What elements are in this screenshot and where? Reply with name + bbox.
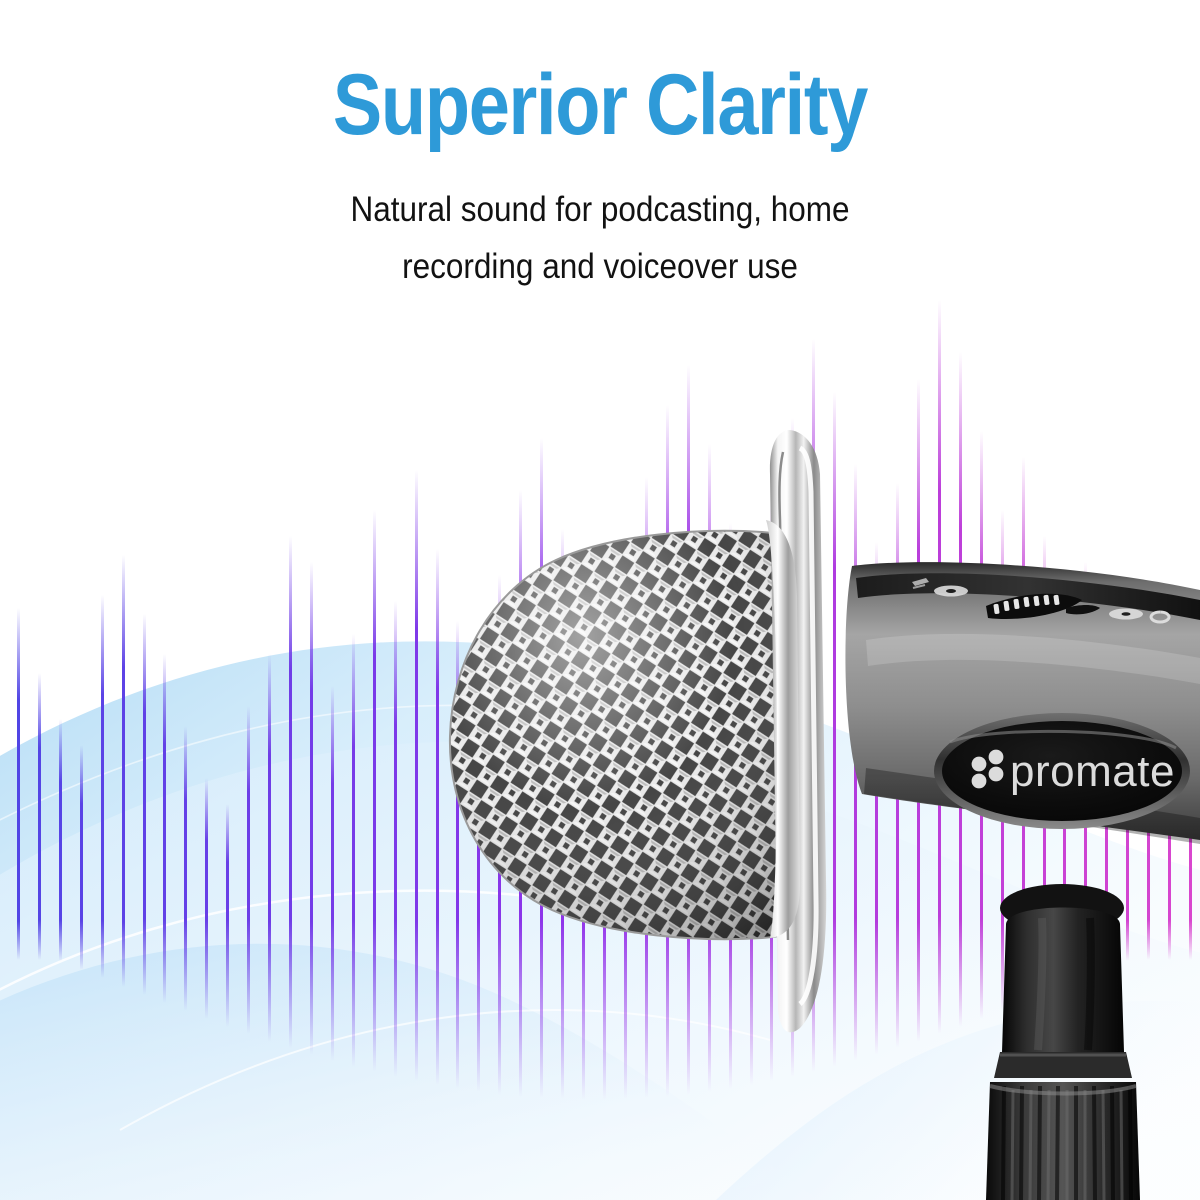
promate-dot-mark-icon xyxy=(972,750,1004,789)
waveform-bar xyxy=(59,719,62,961)
waveform-bar xyxy=(624,555,627,1099)
waveform-bar xyxy=(896,483,899,1048)
waveform-bar xyxy=(17,608,20,960)
waveform-bar xyxy=(101,595,104,979)
microphone-top-controls xyxy=(912,578,1169,622)
audio-waveform-chart xyxy=(0,300,1200,960)
waveform-bar xyxy=(875,542,878,1055)
waveform-bar xyxy=(666,405,669,1097)
waveform-bar xyxy=(456,621,459,1089)
waveform-bar xyxy=(289,536,292,1049)
waveform-bar xyxy=(603,647,606,1100)
waveform-bar xyxy=(519,490,522,1097)
waveform-bar xyxy=(854,464,857,1061)
waveform-bar xyxy=(833,392,836,1067)
waveform-bar xyxy=(1001,510,1004,1012)
waveform-bar xyxy=(310,562,313,1055)
waveform-bar xyxy=(247,706,250,1034)
waveform-bar xyxy=(1063,601,1066,987)
waveform-bar xyxy=(205,778,208,1019)
waveform-bar xyxy=(373,510,376,1073)
brand-logo-plate xyxy=(934,713,1190,829)
microphone-body xyxy=(845,562,1200,844)
waveform-bar xyxy=(791,418,794,1077)
waveform-bar xyxy=(226,804,229,1027)
waveform-bar xyxy=(415,470,418,1081)
waveform-bar xyxy=(331,686,334,1061)
waveform-bar xyxy=(645,477,648,1099)
waveform-bar xyxy=(1043,536,1046,995)
waveform-bar xyxy=(80,745,83,970)
waveform-bar xyxy=(163,654,166,1004)
waveform-bar xyxy=(1168,693,1171,960)
waveform-bar xyxy=(770,503,773,1081)
waveform-bar xyxy=(352,634,355,1067)
waveform-bar xyxy=(729,523,732,1089)
waveform-bar xyxy=(1126,673,1129,961)
waveform-bar xyxy=(394,601,397,1077)
product-banner: promate Superior Clarity Natural sound f… xyxy=(0,0,1200,1200)
microphone-chrome-ring xyxy=(766,430,826,1032)
headline-block: Superior Clarity Natural sound for podca… xyxy=(0,0,1200,295)
waveform-bar xyxy=(268,654,271,1042)
promate-wordmark: promate xyxy=(1010,747,1175,796)
microphone-grille xyxy=(430,510,830,960)
waveform-bar xyxy=(184,726,187,1012)
promate-logo: promate xyxy=(938,712,1188,830)
waveform-bar xyxy=(498,575,501,1095)
waveform-bar xyxy=(1105,634,1108,970)
page-title: Superior Clarity xyxy=(84,0,1116,148)
microphone-stand xyxy=(986,884,1140,1200)
waveform-bar xyxy=(582,588,585,1100)
waveform-bar xyxy=(959,352,962,1027)
waveform-bar xyxy=(143,614,146,995)
waveform-bar xyxy=(687,365,690,1094)
waveform-bar xyxy=(540,438,543,1099)
waveform-bar xyxy=(938,300,941,1034)
waveform-bar xyxy=(917,379,920,1042)
waveform-bar xyxy=(1147,621,1150,960)
page-subtitle: Natural sound for podcasting, home recor… xyxy=(303,148,897,295)
waveform-bar xyxy=(1189,654,1192,960)
page-subtitle-line-2: recording and voiceover use xyxy=(303,239,897,296)
waveform-bar xyxy=(1022,457,1025,1003)
page-subtitle-line-1: Natural sound for podcasting, home xyxy=(303,182,897,239)
waveform-bar xyxy=(122,555,125,986)
waveform-bar xyxy=(477,667,480,1092)
waveform-bar xyxy=(38,673,41,960)
waveform-bar xyxy=(436,549,439,1086)
waveform-bar xyxy=(812,339,815,1072)
waveform-bar xyxy=(561,529,564,1099)
waveform-bar xyxy=(750,582,753,1086)
waveform-bar xyxy=(980,431,983,1019)
waveform-bar xyxy=(708,444,711,1092)
waveform-bar xyxy=(1084,562,1087,978)
